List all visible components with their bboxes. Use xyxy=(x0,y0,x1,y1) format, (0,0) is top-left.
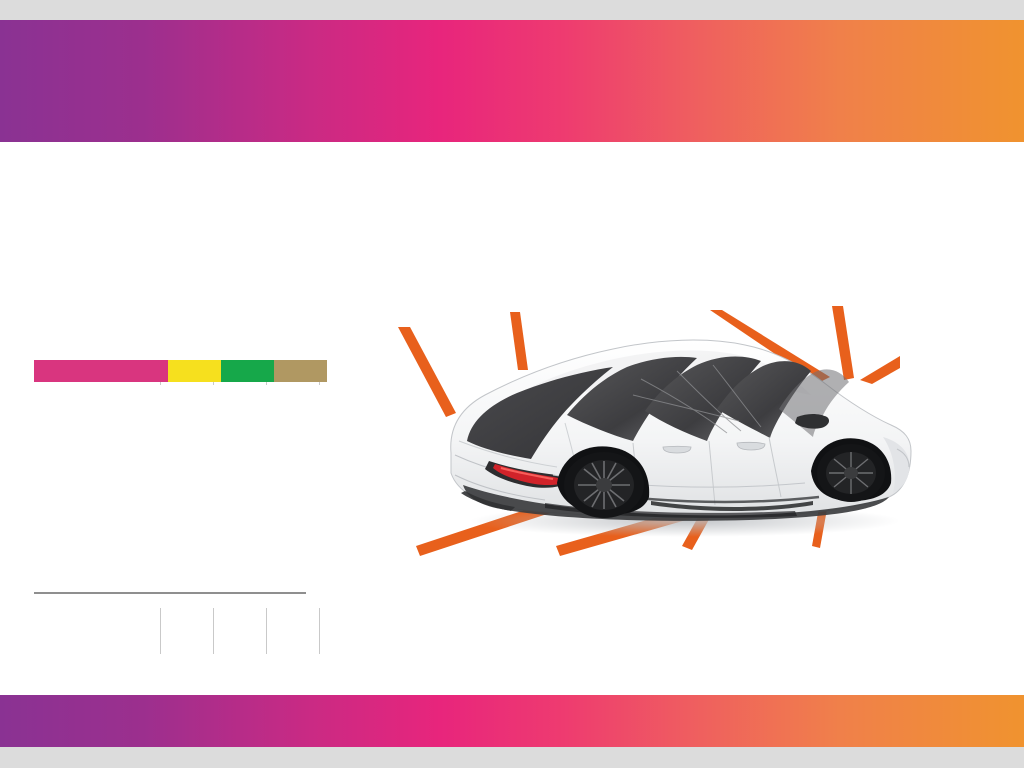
also-included-body xyxy=(34,610,319,612)
column-header-component xyxy=(34,360,168,382)
poster-page xyxy=(0,0,1024,768)
column-header-advance xyxy=(221,360,274,382)
car-diagram xyxy=(360,250,1005,595)
table-divider xyxy=(34,592,306,594)
coverage-table-body xyxy=(34,382,319,385)
also-included-table xyxy=(34,610,319,612)
coverage-table xyxy=(34,360,319,385)
page-footer xyxy=(0,695,1024,747)
car-illustration xyxy=(445,325,915,540)
column-header-essential xyxy=(274,360,327,382)
page-header xyxy=(0,20,1024,142)
coverage-table-header xyxy=(34,360,319,382)
car-svg xyxy=(445,325,915,540)
column-header-ultimate xyxy=(168,360,221,382)
